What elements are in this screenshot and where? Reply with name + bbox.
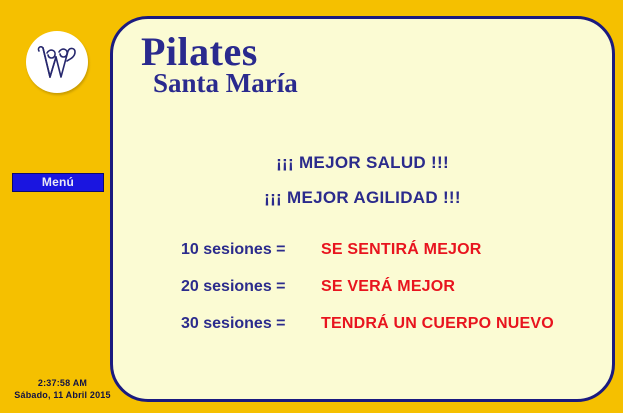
content-panel: Pilates Santa María ¡¡¡ MEJOR SALUD !!! … — [110, 16, 615, 402]
page-subtitle: Santa María — [153, 69, 298, 97]
page-title: Pilates — [141, 31, 298, 73]
left-sidebar: Menú 2:37:58 AM Sábado, 11 Abril 2015 — [0, 0, 110, 413]
session-label: 10 sesiones = — [181, 241, 321, 259]
session-label: 30 sesiones = — [181, 315, 321, 333]
table-row: 20 sesiones = SE VERÁ MEJOR — [181, 278, 601, 315]
logo-monogram-icon — [26, 31, 88, 93]
page-stage: Menú 2:37:58 AM Sábado, 11 Abril 2015 Pi… — [0, 0, 623, 413]
brand-title-block: Pilates Santa María — [141, 31, 298, 97]
session-benefit: TENDRÁ UN CUERPO NUEVO — [321, 315, 554, 333]
table-row: 30 sesiones = TENDRÁ UN CUERPO NUEVO — [181, 315, 601, 352]
slogan-line: ¡¡¡ MEJOR AGILIDAD !!! — [113, 180, 612, 215]
slogan-line: ¡¡¡ MEJOR SALUD !!! — [113, 145, 612, 180]
menu-button[interactable]: Menú — [12, 173, 104, 192]
table-row: 10 sesiones = SE SENTIRÁ MEJOR — [181, 241, 601, 278]
sessions-table: 10 sesiones = SE SENTIRÁ MEJOR 20 sesion… — [181, 241, 601, 352]
monogram-w-logo-icon — [26, 31, 88, 93]
clock-time: 2:37:58 AM — [0, 377, 125, 389]
clock-date: Sábado, 11 Abril 2015 — [0, 389, 125, 401]
session-benefit: SE VERÁ MEJOR — [321, 278, 455, 296]
session-benefit: SE SENTIRÁ MEJOR — [321, 241, 482, 259]
slogan-list: ¡¡¡ MEJOR SALUD !!! ¡¡¡ MEJOR AGILIDAD !… — [113, 145, 612, 215]
clock-widget: 2:37:58 AM Sábado, 11 Abril 2015 — [0, 377, 125, 401]
session-label: 20 sesiones = — [181, 278, 321, 296]
